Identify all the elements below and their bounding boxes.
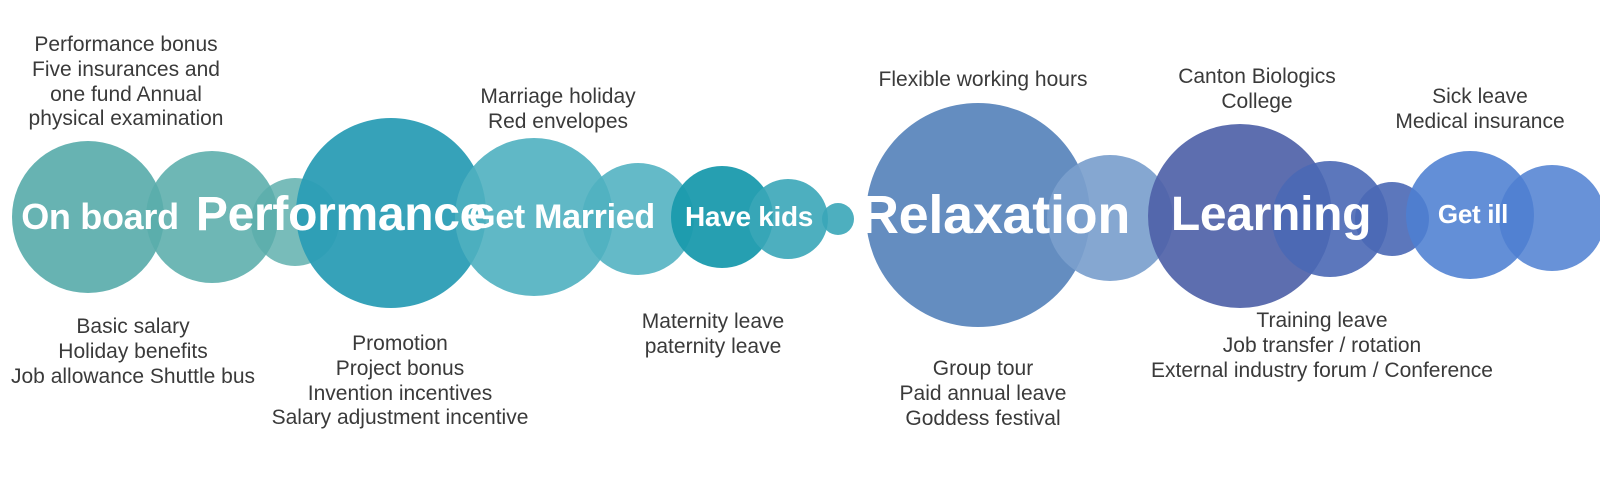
infographic-canvas: On boardPerformance bonusFive insurances…: [0, 0, 1600, 480]
bubble-chain: [0, 0, 1600, 480]
bubble-bridge-tiny: [822, 203, 854, 235]
bubble-get-ill-tail: [1499, 165, 1600, 271]
bubble-have-kids-second: [748, 179, 828, 259]
bubble-on-board-main: [12, 141, 164, 293]
